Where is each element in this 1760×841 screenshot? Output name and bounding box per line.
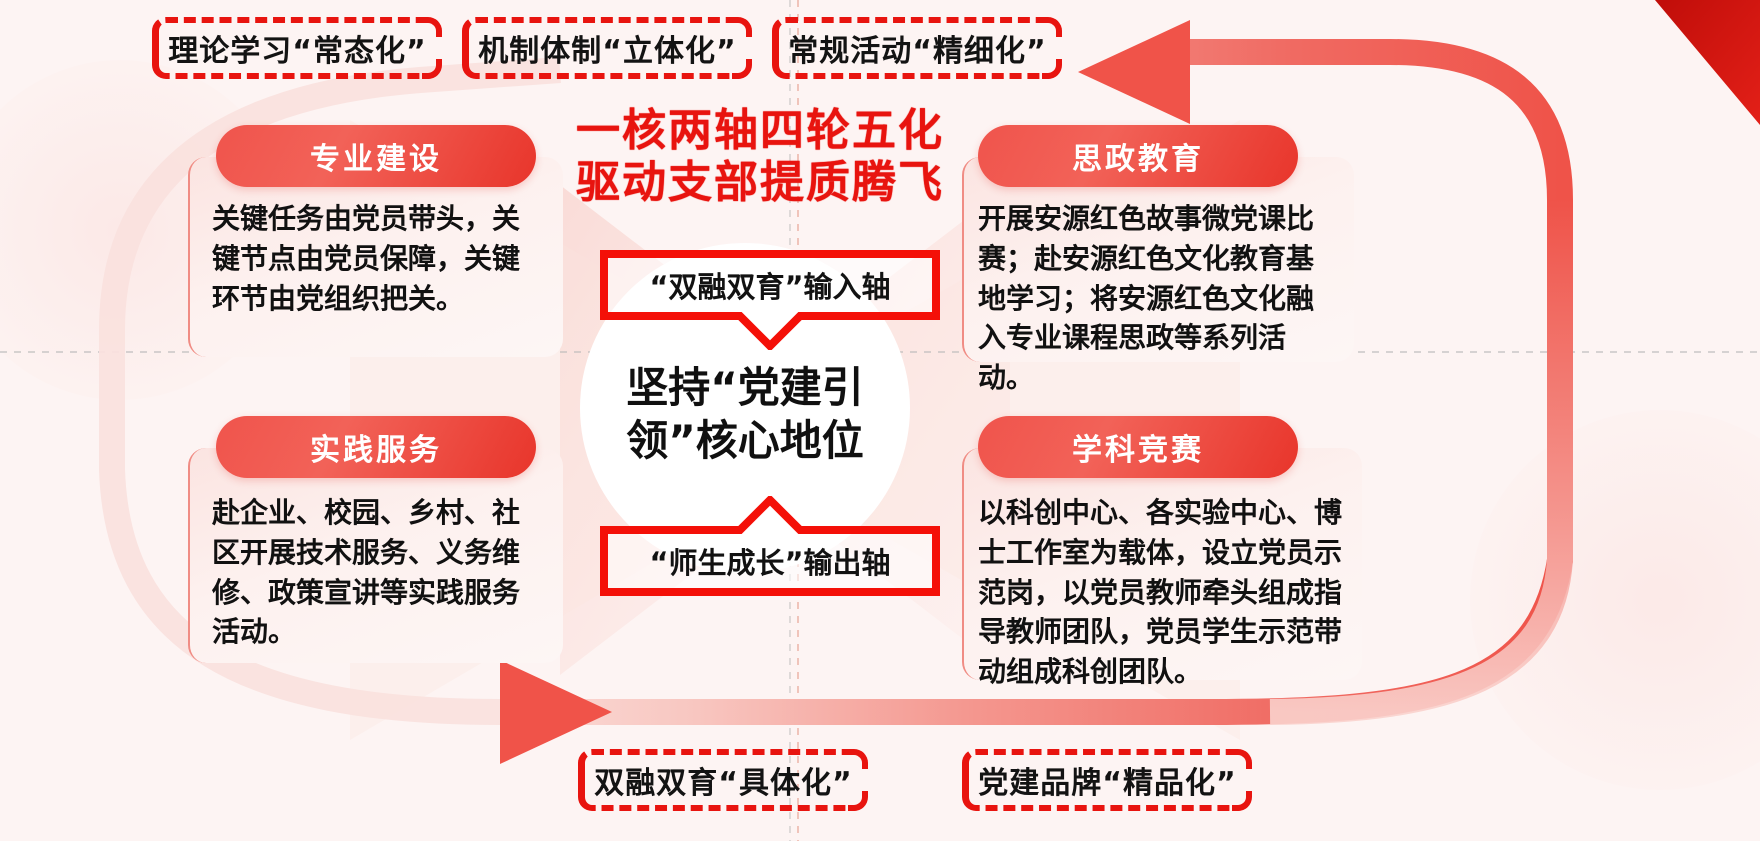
core-statement-line2: 领”核心地位	[600, 415, 890, 468]
card-practice-service[interactable]: 赴企业、校园、乡村、社区开展技术服务、义务维修、政策宣讲等实践服务活动。	[188, 448, 563, 663]
card-discipline-competition-title[interactable]: 学科竞赛	[978, 416, 1298, 478]
corner-accent	[1655, 0, 1760, 125]
core-statement: 坚持“党建引 领”核心地位	[600, 362, 890, 467]
output-axis-label-text: “师生成长”输出轴	[649, 540, 890, 582]
main-title: 一核两轴四轮五化 驱动支部提质腾飞	[560, 105, 960, 209]
card-ideological-education-title-text: 思政教育	[1072, 134, 1204, 178]
card-discipline-competition-title-text: 学科竞赛	[1072, 425, 1204, 469]
output-axis-label[interactable]: “师生成长”输出轴	[600, 530, 940, 592]
card-practice-service-title[interactable]: 实践服务	[216, 416, 536, 478]
top-label-2[interactable]: 常规活动“精细化”	[772, 17, 1062, 79]
main-title-line2: 驱动支部提质腾飞	[560, 157, 960, 209]
card-major-construction-title-text: 专业建设	[310, 134, 442, 178]
card-practice-service-title-text: 实践服务	[310, 425, 442, 469]
input-axis-label[interactable]: “双融双育”输入轴	[600, 254, 940, 316]
bottom-label-0[interactable]: 双融双育“具体化”	[578, 749, 868, 811]
top-label-2-text: 常规活动“精细化”	[788, 26, 1046, 70]
top-label-0[interactable]: 理论学习“常态化”	[152, 17, 442, 79]
card-ideological-education-title[interactable]: 思政教育	[978, 125, 1298, 187]
top-label-0-text: 理论学习“常态化”	[168, 26, 426, 70]
top-label-1[interactable]: 机制体制“立体化”	[462, 17, 752, 79]
card-discipline-competition-body: 以科创中心、各实验中心、博士工作室为载体，设立党员示范岗，以党员教师牵头组成指导…	[978, 493, 1354, 692]
card-discipline-competition[interactable]: 以科创中心、各实验中心、博士工作室为载体，设立党员示范岗，以党员教师牵头组成指导…	[962, 448, 1362, 680]
input-axis-label-text: “双融双育”输入轴	[649, 264, 890, 306]
core-statement-line1: 坚持“党建引	[600, 362, 890, 415]
bottom-label-1[interactable]: 党建品牌“精品化”	[962, 749, 1252, 811]
main-title-line1: 一核两轴四轮五化	[560, 105, 960, 157]
card-ideological-education-body: 开展安源红色故事微党课比赛；赴安源红色文化教育基地学习；将安源红色文化融入专业课…	[978, 199, 1340, 398]
infographic-canvas: 理论学习“常态化” 机制体制“立体化” 常规活动“精细化” 双融双育“具体化” …	[0, 0, 1760, 841]
bottom-label-1-text: 党建品牌“精品化”	[978, 758, 1236, 802]
card-major-construction-body: 关键任务由党员带头，关键节点由党员保障，关键环节由党组织把关。	[212, 199, 545, 318]
card-major-construction-title[interactable]: 专业建设	[216, 125, 536, 187]
card-practice-service-body: 赴企业、校园、乡村、社区开展技术服务、义务维修、政策宣讲等实践服务活动。	[212, 493, 545, 652]
card-ideological-education[interactable]: 开展安源红色故事微党课比赛；赴安源红色文化教育基地学习；将安源红色文化融入专业课…	[962, 157, 1354, 362]
card-major-construction[interactable]: 关键任务由党员带头，关键节点由党员保障，关键环节由党组织把关。	[188, 157, 563, 357]
top-label-1-text: 机制体制“立体化”	[478, 26, 736, 70]
bottom-label-0-text: 双融双育“具体化”	[594, 758, 852, 802]
